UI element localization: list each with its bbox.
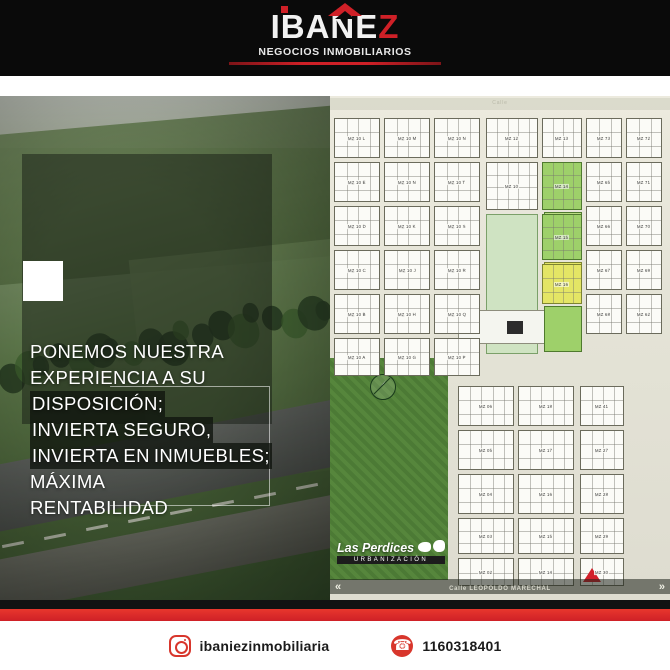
parcel-divider (470, 163, 471, 201)
compass-north-icon (370, 374, 396, 400)
lot-block[interactable]: MZ 66 (586, 206, 622, 246)
parcel-divider (581, 400, 623, 401)
lot-block-label: MZ 10 R (447, 267, 467, 272)
site-plan-map[interactable]: Calle (330, 96, 670, 600)
parcel-divider (335, 220, 379, 221)
lot-block-label: MZ 04 (478, 491, 493, 496)
parcel-divider (587, 264, 621, 265)
parcel-divider (504, 519, 505, 553)
parcel-divider (530, 519, 531, 553)
parcel-divider (529, 119, 530, 157)
parcel-divider (370, 339, 371, 375)
logo-tagline: NEGOCIOS INMOBILIARIOS (210, 46, 460, 58)
chevron-left-icon: « (335, 581, 341, 593)
hero-photo: PONEMOS NUESTRAEXPERIENCIA A SUDISPOSICI… (0, 96, 330, 600)
parcel-divider (587, 322, 621, 323)
map-street-top-label: Calle (330, 100, 670, 106)
parcel-divider (504, 387, 505, 425)
lot-block[interactable]: MZ 06 (458, 386, 514, 426)
lot-block-label: MZ 10 G (397, 354, 417, 359)
lot-block[interactable]: MZ 28 (580, 474, 624, 514)
parcel-divider (614, 519, 615, 553)
lot-block[interactable]: MZ 10 M (384, 118, 430, 158)
parcel-divider (385, 220, 429, 221)
instagram-handle: ibaniezinmobiliaria (200, 638, 330, 654)
parcel-divider (587, 190, 621, 191)
lot-block-label: MZ 06 (478, 403, 493, 408)
parcel-divider (470, 475, 471, 513)
lot-block-label: MZ 68 (596, 311, 611, 316)
lot-block[interactable]: MZ 67 (586, 250, 622, 290)
parcel-divider (519, 543, 573, 544)
footer-black-divider (0, 600, 670, 609)
lot-block-label: MZ 29 (594, 533, 609, 538)
parcel-divider (627, 190, 661, 191)
lot-block-label: MZ 65 (596, 179, 611, 184)
parcel-divider (335, 364, 379, 365)
parcel-divider (543, 132, 581, 133)
parcel-divider (435, 220, 479, 221)
parcel-divider (587, 234, 621, 235)
parcel-divider (435, 264, 479, 265)
parcel-divider (370, 163, 371, 201)
parcel-divider (335, 176, 379, 177)
lot-block-label: MZ 62 (636, 311, 651, 316)
parcel-divider (470, 519, 471, 553)
parcel-divider (581, 531, 623, 532)
lot-block-label: MZ 15 (554, 234, 569, 239)
parcel-divider (587, 220, 621, 221)
parcel-divider (435, 278, 479, 279)
parcel-divider (435, 352, 479, 353)
chevron-right-icon: » (659, 581, 665, 593)
parcel-divider (627, 176, 661, 177)
parcel-divider (592, 431, 593, 469)
lot-block-label: MZ 10 E (347, 179, 367, 184)
parcel-divider (370, 119, 371, 157)
parcel-divider (420, 207, 421, 245)
lot-block[interactable]: MZ 13 (542, 118, 582, 158)
parcel-divider (459, 400, 513, 401)
parcel-divider (627, 220, 661, 221)
lot-block-label: MZ 41 (594, 403, 609, 408)
headline-line-6: INMUEBLES; (152, 443, 272, 469)
parcel-divider (459, 531, 513, 532)
partridge-icon-2 (433, 540, 445, 552)
headline-line-8: RENTABILIDAD (30, 495, 280, 521)
lot-block[interactable]: MZ 10 S (434, 206, 480, 246)
lot-block[interactable]: MZ 69 (626, 250, 662, 290)
lot-block-label: MZ 72 (636, 135, 651, 140)
parcel-divider (385, 308, 429, 309)
parcel-divider (497, 163, 498, 209)
parcel-divider (587, 278, 621, 279)
lot-block[interactable]: MZ 10 (486, 162, 538, 210)
parcel-divider (397, 251, 398, 289)
parcel-divider (459, 502, 513, 503)
lot-block[interactable]: MZ 73 (586, 118, 622, 158)
lot-block[interactable]: MZ 16 (518, 474, 574, 514)
parcel-divider (519, 458, 573, 459)
lot-block[interactable]: MZ 29 (580, 518, 624, 554)
parcel-divider (592, 475, 593, 513)
lot-block-label: MZ 10 P (447, 354, 467, 359)
parcel-divider (573, 265, 574, 303)
parcel-divider (385, 352, 429, 353)
footer-bar: ibaniezinmobiliaria 1160318401 (0, 621, 670, 670)
lot-block[interactable]: MZ 15 (542, 214, 582, 260)
parcel-divider (614, 431, 615, 469)
lot-block-label: MZ 66 (596, 223, 611, 228)
lot-block[interactable]: MZ 10 E (334, 162, 380, 202)
parcel-divider (335, 146, 379, 147)
clubhouse-pool (507, 321, 523, 334)
lot-block-label: MZ 10 K (397, 223, 417, 228)
block-sold-cluster-4[interactable] (544, 306, 582, 352)
lot-block-label: MZ 70 (636, 223, 651, 228)
lot-block[interactable]: MZ 41 (580, 386, 624, 426)
parcel-divider (487, 132, 537, 133)
parcel-divider (370, 251, 371, 289)
lot-block-label: MZ 28 (594, 491, 609, 496)
lot-block-label: MZ 03 (478, 533, 493, 538)
parcel-divider (335, 264, 379, 265)
lot-block[interactable]: MZ 05 (458, 430, 514, 470)
parcel-divider (627, 146, 661, 147)
white-square-accent (23, 261, 63, 301)
parcel-divider (564, 519, 565, 553)
parcel-divider (470, 431, 471, 469)
parcel-divider (435, 132, 479, 133)
parcel-divider (519, 488, 573, 489)
parcel-divider (543, 278, 581, 279)
headline-line-2: EXPERIENCIA A SU (30, 365, 280, 391)
lot-block-label: MZ 10 H (397, 311, 417, 316)
parcel-divider (459, 414, 513, 415)
parcel-divider (543, 227, 581, 228)
lot-block[interactable]: MZ 10 Q (434, 294, 480, 334)
lot-block-label: MZ 27 (594, 447, 609, 452)
parcel-divider (470, 251, 471, 289)
parcel-divider (530, 475, 531, 513)
lot-block[interactable]: MZ 16 (542, 264, 582, 304)
lot-block-label: MZ 71 (636, 179, 651, 184)
parcel-divider (335, 234, 379, 235)
parcel-divider (573, 163, 574, 209)
company-logo: IBAÑEZ NEGOCIOS INMOBILIARIOS (210, 6, 460, 70)
logo-text-part3: Z (378, 10, 399, 44)
parcel-divider (370, 207, 371, 245)
parcel-divider (459, 488, 513, 489)
parcel-divider (564, 475, 565, 513)
phone-number: 1160318401 (422, 638, 501, 654)
lot-block-label: MZ 10 D (347, 223, 367, 228)
parcel-divider (370, 295, 371, 333)
parcel-divider (487, 199, 537, 200)
lot-block-label: MZ 10 C (347, 267, 367, 272)
lot-block-label: MZ 10 Q (447, 311, 467, 316)
footer-red-divider (0, 609, 670, 621)
map-street-bottom-label: Calle LEOPOLDO MARECHAL (330, 586, 670, 592)
parcel-divider (435, 190, 479, 191)
parcel-divider (487, 146, 537, 147)
parcel-divider (385, 234, 429, 235)
lot-block-label: MZ 10 L (347, 135, 366, 140)
parcel-divider (543, 146, 581, 147)
lot-block-label: MZ 12 (504, 135, 519, 140)
lot-block-label: MZ 10 M (397, 135, 417, 140)
parcel-divider (627, 264, 661, 265)
lot-block[interactable]: MZ 10 A (334, 338, 380, 376)
parcel-divider (530, 387, 531, 425)
lot-block[interactable]: MZ 70 (626, 206, 662, 246)
parcel-divider (459, 458, 513, 459)
lot-block-label: MZ 10 S (447, 223, 467, 228)
parcel-divider (592, 387, 593, 425)
headline-line-4: INVIERTA SEGURO, (30, 417, 213, 443)
parcel-divider (581, 488, 623, 489)
parcel-divider (335, 352, 379, 353)
lot-block[interactable]: MZ 10 R (434, 250, 480, 290)
parcel-divider (385, 132, 429, 133)
parcel-divider (420, 251, 421, 289)
parcel-divider (459, 444, 513, 445)
lot-block-label: MZ 10 B (347, 311, 367, 316)
headline-line-5: INVIERTA EN (30, 443, 152, 469)
lot-block-label: MZ 73 (596, 135, 611, 140)
parcel-divider (587, 132, 621, 133)
lot-block[interactable]: MZ 65 (586, 162, 622, 202)
poster-root: IBAÑEZ NEGOCIOS INMOBILIARIOS PONEMOS NU… (0, 0, 670, 670)
parcel-divider (497, 119, 498, 157)
lot-block-label: MZ 17 (538, 447, 553, 452)
lot-block[interactable]: MZ 10 C (334, 250, 380, 290)
project-subtitle: URBANIZACIÓN (337, 556, 445, 564)
lot-block-label: MZ 16 (554, 281, 569, 286)
parcel-divider (470, 207, 471, 245)
phone-contact[interactable]: 1160318401 (391, 635, 501, 657)
parcel-divider (581, 444, 623, 445)
header-bar: IBAÑEZ NEGOCIOS INMOBILIARIOS (0, 0, 670, 76)
house-roof-inner (335, 11, 355, 19)
parcel-divider (385, 322, 429, 323)
parcel-divider (614, 387, 615, 425)
lot-block-label: MZ 05 (478, 447, 493, 452)
parcel-divider (420, 119, 421, 157)
project-logo: Las Perdices URBANIZACIÓN (337, 541, 445, 564)
parcel-divider (587, 176, 621, 177)
parcel-divider (435, 234, 479, 235)
parcel-divider (530, 431, 531, 469)
parcel-divider (420, 163, 421, 201)
lot-block-label: MZ 14 (538, 569, 553, 574)
parcel-divider (529, 163, 530, 209)
lot-block[interactable]: MZ 10 J (384, 250, 430, 290)
lot-block-label: MZ 69 (636, 267, 651, 272)
parcel-divider (385, 190, 429, 191)
phone-icon (391, 635, 413, 657)
parcel-divider (470, 339, 471, 375)
lot-block[interactable]: MZ 71 (626, 162, 662, 202)
lot-block[interactable]: MZ 04 (458, 474, 514, 514)
parcel-divider (543, 199, 581, 200)
lot-block-label: MZ 10 (504, 183, 519, 188)
lot-block[interactable]: MZ 10 B (334, 294, 380, 334)
parcel-divider (614, 475, 615, 513)
partridge-icon-1 (418, 542, 431, 552)
parcel-divider (335, 278, 379, 279)
lot-block[interactable]: MZ 68 (586, 294, 622, 334)
lot-block[interactable]: MZ 03 (458, 518, 514, 554)
parcel-divider (385, 264, 429, 265)
parcel-divider (592, 519, 593, 553)
parcel-divider (335, 322, 379, 323)
parcel-divider (519, 502, 573, 503)
parcel-divider (435, 308, 479, 309)
parcel-divider (564, 431, 565, 469)
lot-block[interactable]: MZ 15 (518, 518, 574, 554)
parcel-divider (335, 308, 379, 309)
header-spacer (0, 76, 670, 96)
lot-block[interactable]: MZ 10 T (434, 162, 480, 202)
lot-block[interactable]: MZ 10 N (434, 118, 480, 158)
content-canvas: PONEMOS NUESTRAEXPERIENCIA A SUDISPOSICI… (0, 96, 670, 600)
logo-text-part1: IBA (271, 10, 331, 44)
parcel-divider (385, 146, 429, 147)
parcel-divider (435, 364, 479, 365)
lot-block[interactable]: MZ 27 (580, 430, 624, 470)
parcel-divider (335, 132, 379, 133)
lot-block-label: MZ 13 (554, 135, 569, 140)
parcel-divider (435, 176, 479, 177)
parcel-divider (504, 431, 505, 469)
parcel-divider (459, 543, 513, 544)
lot-block[interactable]: MZ 10 D (334, 206, 380, 246)
parcel-divider (420, 295, 421, 333)
parcel-divider (587, 146, 621, 147)
parcel-divider (573, 215, 574, 259)
parcel-divider (470, 295, 471, 333)
parcel-divider (581, 414, 623, 415)
lot-block-label: MZ 10 A (347, 354, 366, 359)
headline-text: PONEMOS NUESTRAEXPERIENCIA A SUDISPOSICI… (30, 339, 280, 521)
parcel-divider (487, 175, 537, 176)
lot-block[interactable]: MZ 10 K (384, 206, 430, 246)
parcel-divider (627, 278, 661, 279)
lot-block[interactable]: MZ 10 L (334, 118, 380, 158)
headline-line-7: MÁXIMA (30, 469, 280, 495)
lot-block-label: MZ 10 N (397, 179, 417, 184)
parcel-divider (504, 475, 505, 513)
lot-block[interactable]: MZ 62 (626, 294, 662, 334)
parcel-divider (435, 322, 479, 323)
parcel-divider (519, 400, 573, 401)
parcel-divider (385, 278, 429, 279)
logo-underline (229, 62, 441, 65)
lot-block[interactable]: MZ 10 N (384, 162, 430, 202)
lot-block[interactable]: MZ 10 P (434, 338, 480, 376)
parcel-divider (470, 119, 471, 157)
parcel-divider (335, 190, 379, 191)
lot-block-label: MZ 10 N (447, 135, 467, 140)
instagram-icon (169, 635, 191, 657)
parcel-divider (587, 308, 621, 309)
parcel-divider (627, 322, 661, 323)
lot-block-label: MZ 02 (478, 569, 493, 574)
parcel-divider (519, 444, 573, 445)
lot-block[interactable]: MZ 14 (542, 162, 582, 210)
lot-block[interactable]: MZ 10 H (384, 294, 430, 334)
parcel-divider (581, 502, 623, 503)
lot-block-label: MZ 14 (554, 183, 569, 188)
parcel-divider (420, 339, 421, 375)
lot-block[interactable]: MZ 17 (518, 430, 574, 470)
parcel-divider (581, 458, 623, 459)
parcel-divider (385, 176, 429, 177)
parcel-divider (519, 414, 573, 415)
parcel-divider (627, 132, 661, 133)
parcel-divider (627, 234, 661, 235)
lot-block[interactable]: MZ 18 (518, 386, 574, 426)
lot-block-label: MZ 30 (594, 569, 609, 574)
parcel-divider (564, 387, 565, 425)
parcel-divider (435, 146, 479, 147)
instagram-contact[interactable]: ibaniezinmobiliaria (169, 635, 330, 657)
parcel-divider (519, 531, 573, 532)
parcel-divider (573, 119, 574, 157)
parcel-divider (543, 175, 581, 176)
parcel-divider (470, 387, 471, 425)
lot-block-label: MZ 15 (538, 533, 553, 538)
parcel-divider (627, 308, 661, 309)
lot-block[interactable]: MZ 10 G (384, 338, 430, 376)
headline-line-3: DISPOSICIÓN; (30, 391, 165, 417)
logo-wordmark: IBAÑEZ (210, 6, 460, 44)
lot-block-label: MZ 10 T (447, 179, 466, 184)
parcel-divider (543, 250, 581, 251)
lot-block[interactable]: MZ 72 (626, 118, 662, 158)
lot-block-label: MZ 18 (538, 403, 553, 408)
lot-block[interactable]: MZ 12 (486, 118, 538, 158)
logo-accent-dot (281, 6, 288, 13)
headline-line-1: PONEMOS NUESTRA (30, 339, 280, 365)
parcel-divider (385, 364, 429, 365)
lot-block-label: MZ 67 (596, 267, 611, 272)
parcel-divider (581, 543, 623, 544)
lot-block-label: MZ 16 (538, 491, 553, 496)
lot-block-label: MZ 10 J (397, 267, 416, 272)
parcel-divider (543, 292, 581, 293)
